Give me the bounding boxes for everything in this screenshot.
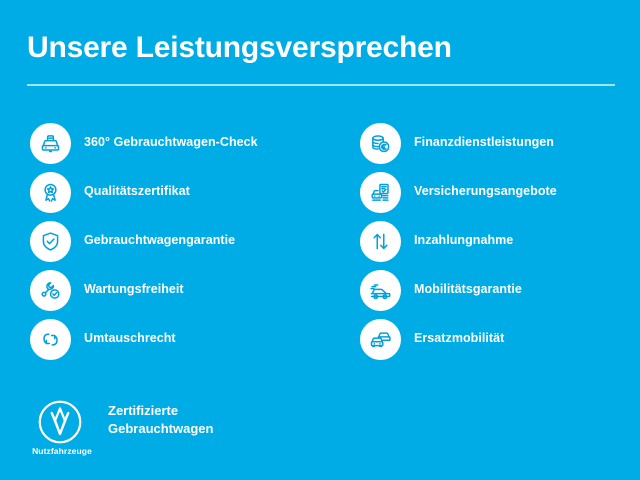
list-item[interactable]: Gebrauchtwagengarantie [30,221,330,270]
footer-claim-line1: Zertifizierte [108,402,213,420]
tow-truck-icon [360,270,401,311]
benefits-column-right: Finanzdienstleistungen [360,123,630,368]
list-item-label: Mobilitätsgarantie [414,282,522,296]
insurance-document-icon [360,172,401,213]
list-item-label: Finanzdienstleistungen [414,135,554,149]
list-item[interactable]: Ersatzmobilität [360,319,630,368]
footer-claim-line2: Gebrauchtwagen [108,420,213,438]
up-down-arrows-icon [360,221,401,262]
title-divider [27,84,615,86]
list-item[interactable]: 360° Gebrauchtwagen-Check [30,123,330,172]
exchange-arrows-icon [30,319,71,360]
list-item-label: Inzahlungnahme [414,233,513,247]
logo-subtitle: Nutzfahrzeuge [30,446,94,456]
list-item[interactable]: Qualitätszertifikat [30,172,330,221]
wrench-check-icon [30,270,71,311]
list-item-label: Wartungsfreiheit [84,282,184,296]
benefits-column-left: 360° Gebrauchtwagen-Check Qualitätszerti… [30,123,330,368]
list-item-label: Ersatzmobilität [414,331,504,345]
list-item[interactable]: Inzahlungnahme [360,221,630,270]
shield-check-icon [30,221,71,262]
footer-claim: Zertifizierte Gebrauchtwagen [108,402,213,437]
list-item[interactable]: Wartungsfreiheit [30,270,330,319]
list-item-label: Versicherungsangebote [414,184,557,198]
list-item-label: Umtauschrecht [84,331,176,345]
award-rosette-icon [30,172,71,213]
list-item[interactable]: Finanzdienstleistungen [360,123,630,172]
slide-root: Unsere Leistungsversprechen 360° Ge [0,0,640,480]
list-item[interactable]: Mobilitätsgarantie [360,270,630,319]
list-item[interactable]: Versicherungsangebote [360,172,630,221]
list-item[interactable]: Umtauschrecht [30,319,330,368]
volkswagen-logo [36,398,84,446]
car-inspection-icon [30,123,71,164]
coins-euro-icon [360,123,401,164]
footer: Nutzfahrzeuge Zertifizierte Gebrauchtwag… [30,396,590,466]
list-item-label: Qualitätszertifikat [84,184,190,198]
two-cars-icon [360,319,401,360]
page-title: Unsere Leistungsversprechen [27,31,452,64]
list-item-label: 360° Gebrauchtwagen-Check [84,135,258,149]
list-item-label: Gebrauchtwagengarantie [84,233,235,247]
